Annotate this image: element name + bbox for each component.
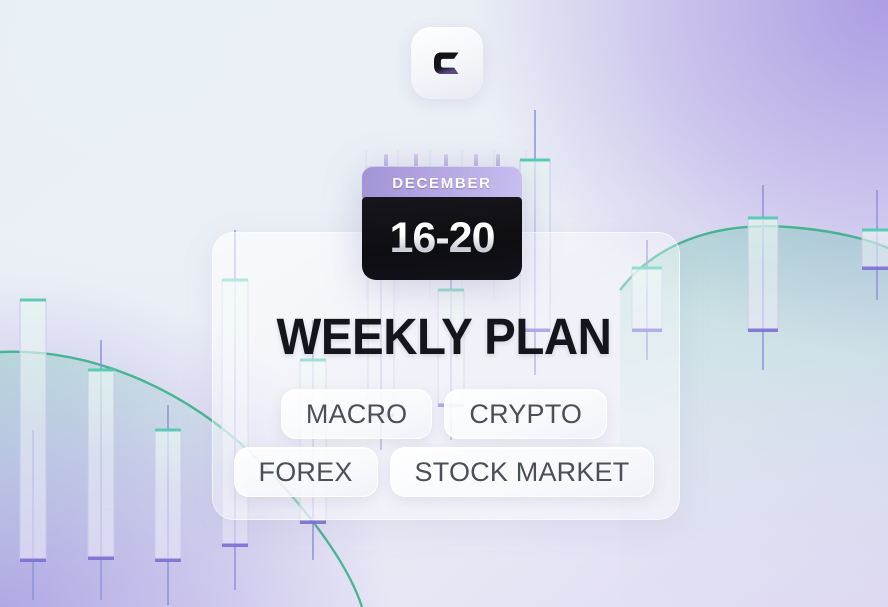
- category-pill-crypto[interactable]: CRYPTO: [444, 389, 607, 439]
- calendar-header: DECEMBER: [362, 166, 522, 200]
- cryptonews-c-logo-icon: [427, 43, 467, 83]
- page-title: WEEKLY PLAN: [31, 307, 857, 366]
- brand-logo-tile: [411, 27, 483, 99]
- calendar-date-range: 16-20: [390, 214, 495, 263]
- category-pill-stock-market[interactable]: STOCK MARKET: [390, 447, 655, 497]
- calendar-body: 16-20: [362, 197, 522, 280]
- poster-canvas: DECEMBER 16-20 WEEKLY PLAN MACRO CRYPTO …: [0, 0, 888, 607]
- calendar-month-label: DECEMBER: [392, 175, 491, 192]
- calendar-widget: DECEMBER 16-20: [362, 166, 522, 280]
- category-pill-forex[interactable]: FOREX: [234, 447, 378, 497]
- category-row-1: MACRO CRYPTO: [0, 389, 888, 439]
- category-row-2: FOREX STOCK MARKET: [0, 447, 888, 497]
- category-pill-macro[interactable]: MACRO: [281, 389, 433, 439]
